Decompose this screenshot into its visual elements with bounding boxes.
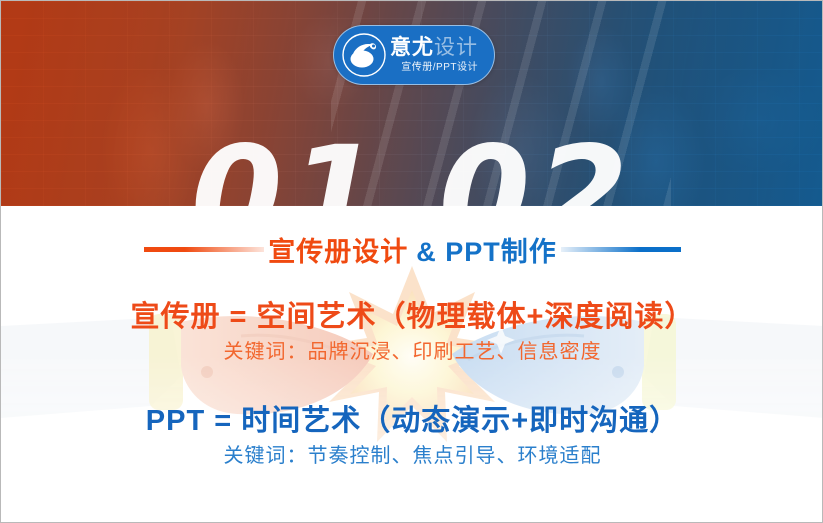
ppt-keywords: 关键词：节奏控制、焦点引导、环境适配 [1,445,823,467]
brochure-headline: 宣传册 = 空间艺术（物理载体+深度阅读） [1,302,823,334]
hero-big-numbers: 01 02 [1,129,823,206]
logo-name-soft: 设计 [434,36,478,59]
logo-badge[interactable]: 意尤设计 宣传册/PPT设计 [333,25,495,85]
title-rule-right [561,247,681,252]
ppt-block: PPT = 时间艺术（动态演示+即时沟通） 关键词：节奏控制、焦点引导、环境适配 [1,406,823,467]
ppt-headline: PPT = 时间艺术（动态演示+即时沟通） [1,406,823,438]
hero-banner: 01 02 意尤设计 宣传册/PPT设计 [1,1,823,206]
poster-canvas: 01 02 意尤设计 宣传册/PPT设计 [0,0,823,523]
section-title-row: 宣传册设计 & PPT制作 [1,230,823,269]
logo-subtitle: 宣传册/PPT设计 [390,63,478,73]
logo-text-group: 意尤设计 宣传册/PPT设计 [390,37,478,73]
title-rule-left [144,247,264,252]
brochure-keywords: 关键词：品牌沉浸、印刷工艺、信息密度 [1,341,823,363]
brochure-block: 宣传册 = 空间艺术（物理载体+深度阅读） 关键词：品牌沉浸、印刷工艺、信息密度 [1,302,823,363]
logo-name-bold: 意尤 [390,36,434,59]
logo-brush-bird-icon [342,33,386,77]
content-area: 宣传册设计 & PPT制作 宣传册 = 空间艺术（物理载体+深度阅读） 关键词：… [1,206,823,523]
logo-name: 意尤设计 [390,37,478,58]
section-title-right: & PPT制作 [412,230,561,269]
section-title-left: 宣传册设计 [264,230,412,269]
